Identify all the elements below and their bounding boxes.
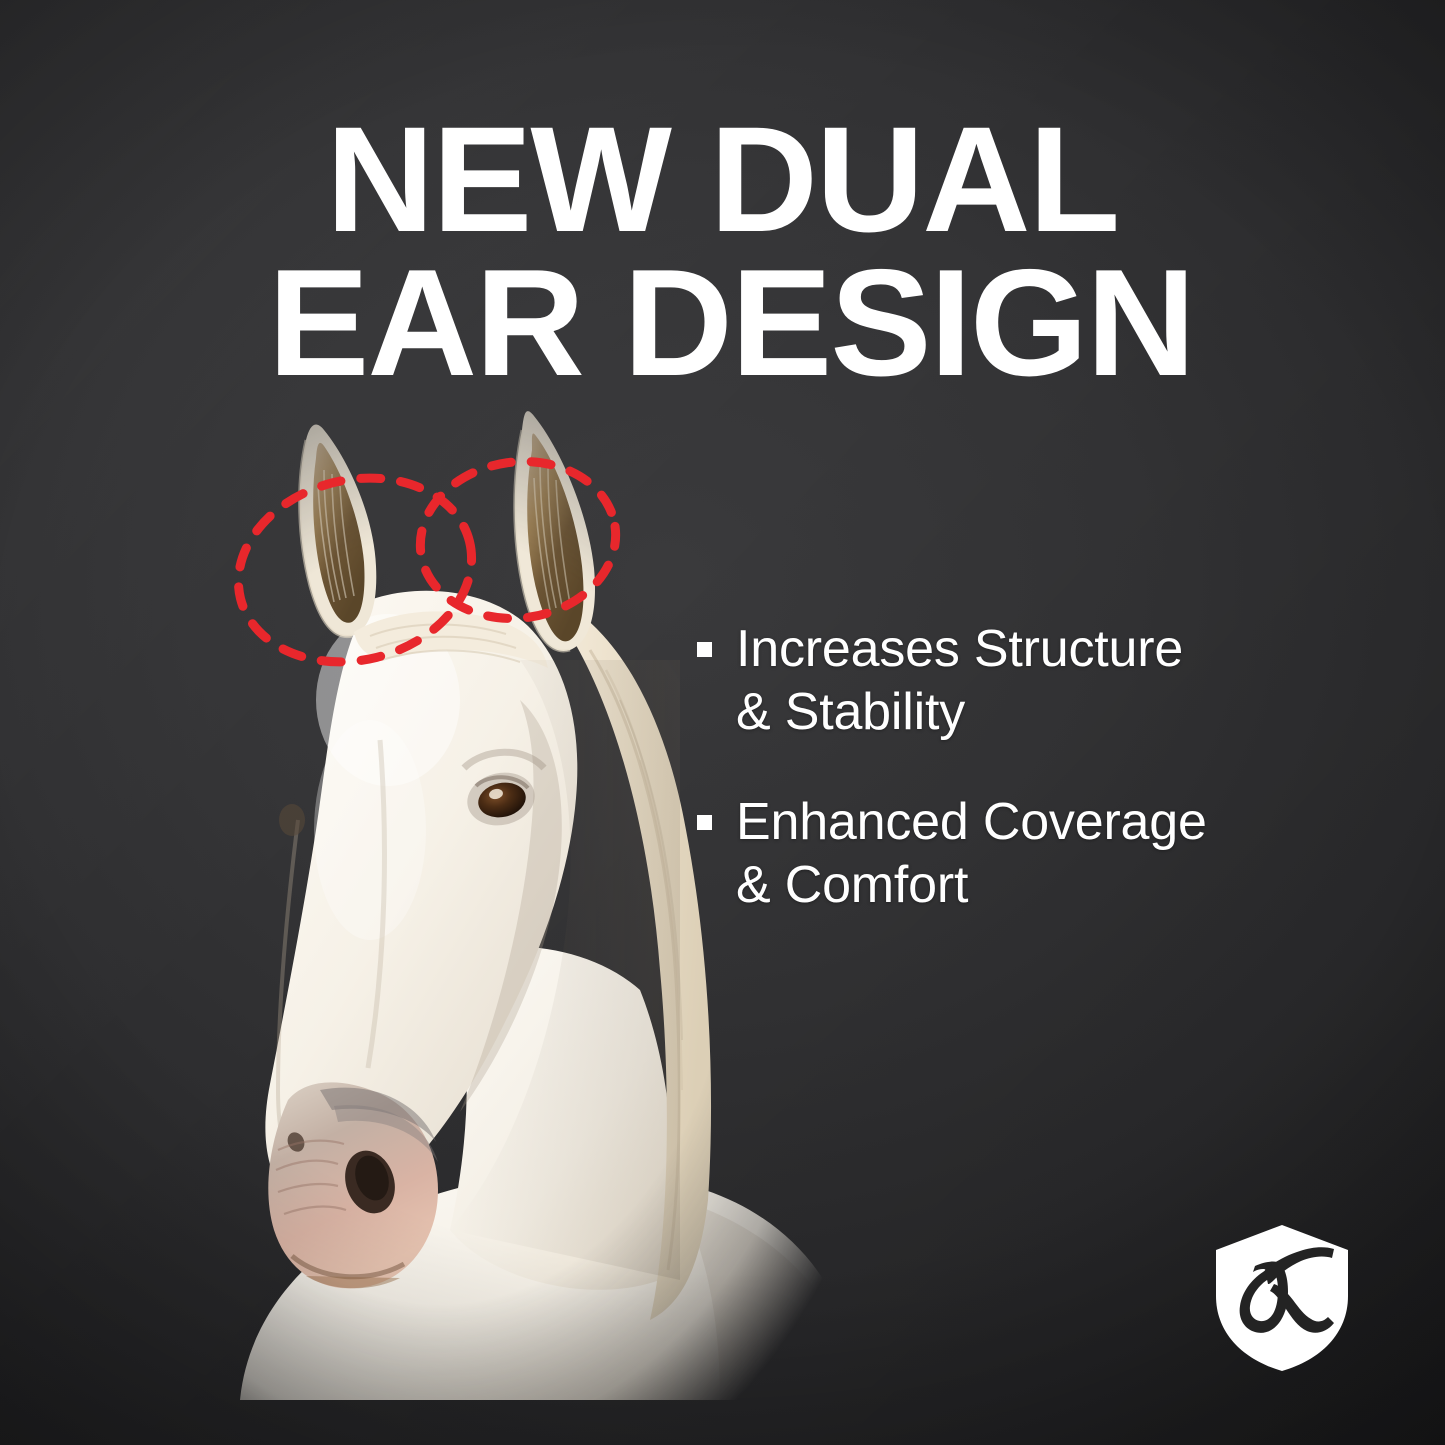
ad-creative-canvas: NEW DUAL EAR DESIGN Increases Structure … — [0, 0, 1445, 1445]
square-bullet-icon — [697, 642, 712, 657]
brand-logo — [1208, 1222, 1356, 1374]
feature-text: Enhanced Coverage & Comfort — [736, 791, 1207, 918]
headline: NEW DUAL EAR DESIGN — [268, 108, 1228, 395]
headline-line-2: EAR DESIGN — [268, 251, 1228, 395]
shield-k-logo-icon — [1208, 1222, 1356, 1374]
feature-text-line-2: & Comfort — [736, 856, 968, 914]
list-item: Enhanced Coverage & Comfort — [697, 791, 1387, 918]
feature-text: Increases Structure & Stability — [736, 618, 1183, 745]
feature-list: Increases Structure & Stability Enhanced… — [697, 618, 1387, 918]
list-item: Increases Structure & Stability — [697, 618, 1387, 745]
feature-text-line-2: & Stability — [736, 683, 965, 741]
headline-line-1: NEW DUAL — [326, 108, 1228, 251]
feature-text-line-1: Increases Structure — [736, 620, 1183, 678]
feature-text-line-1: Enhanced Coverage — [736, 793, 1207, 851]
square-bullet-icon — [697, 815, 712, 830]
